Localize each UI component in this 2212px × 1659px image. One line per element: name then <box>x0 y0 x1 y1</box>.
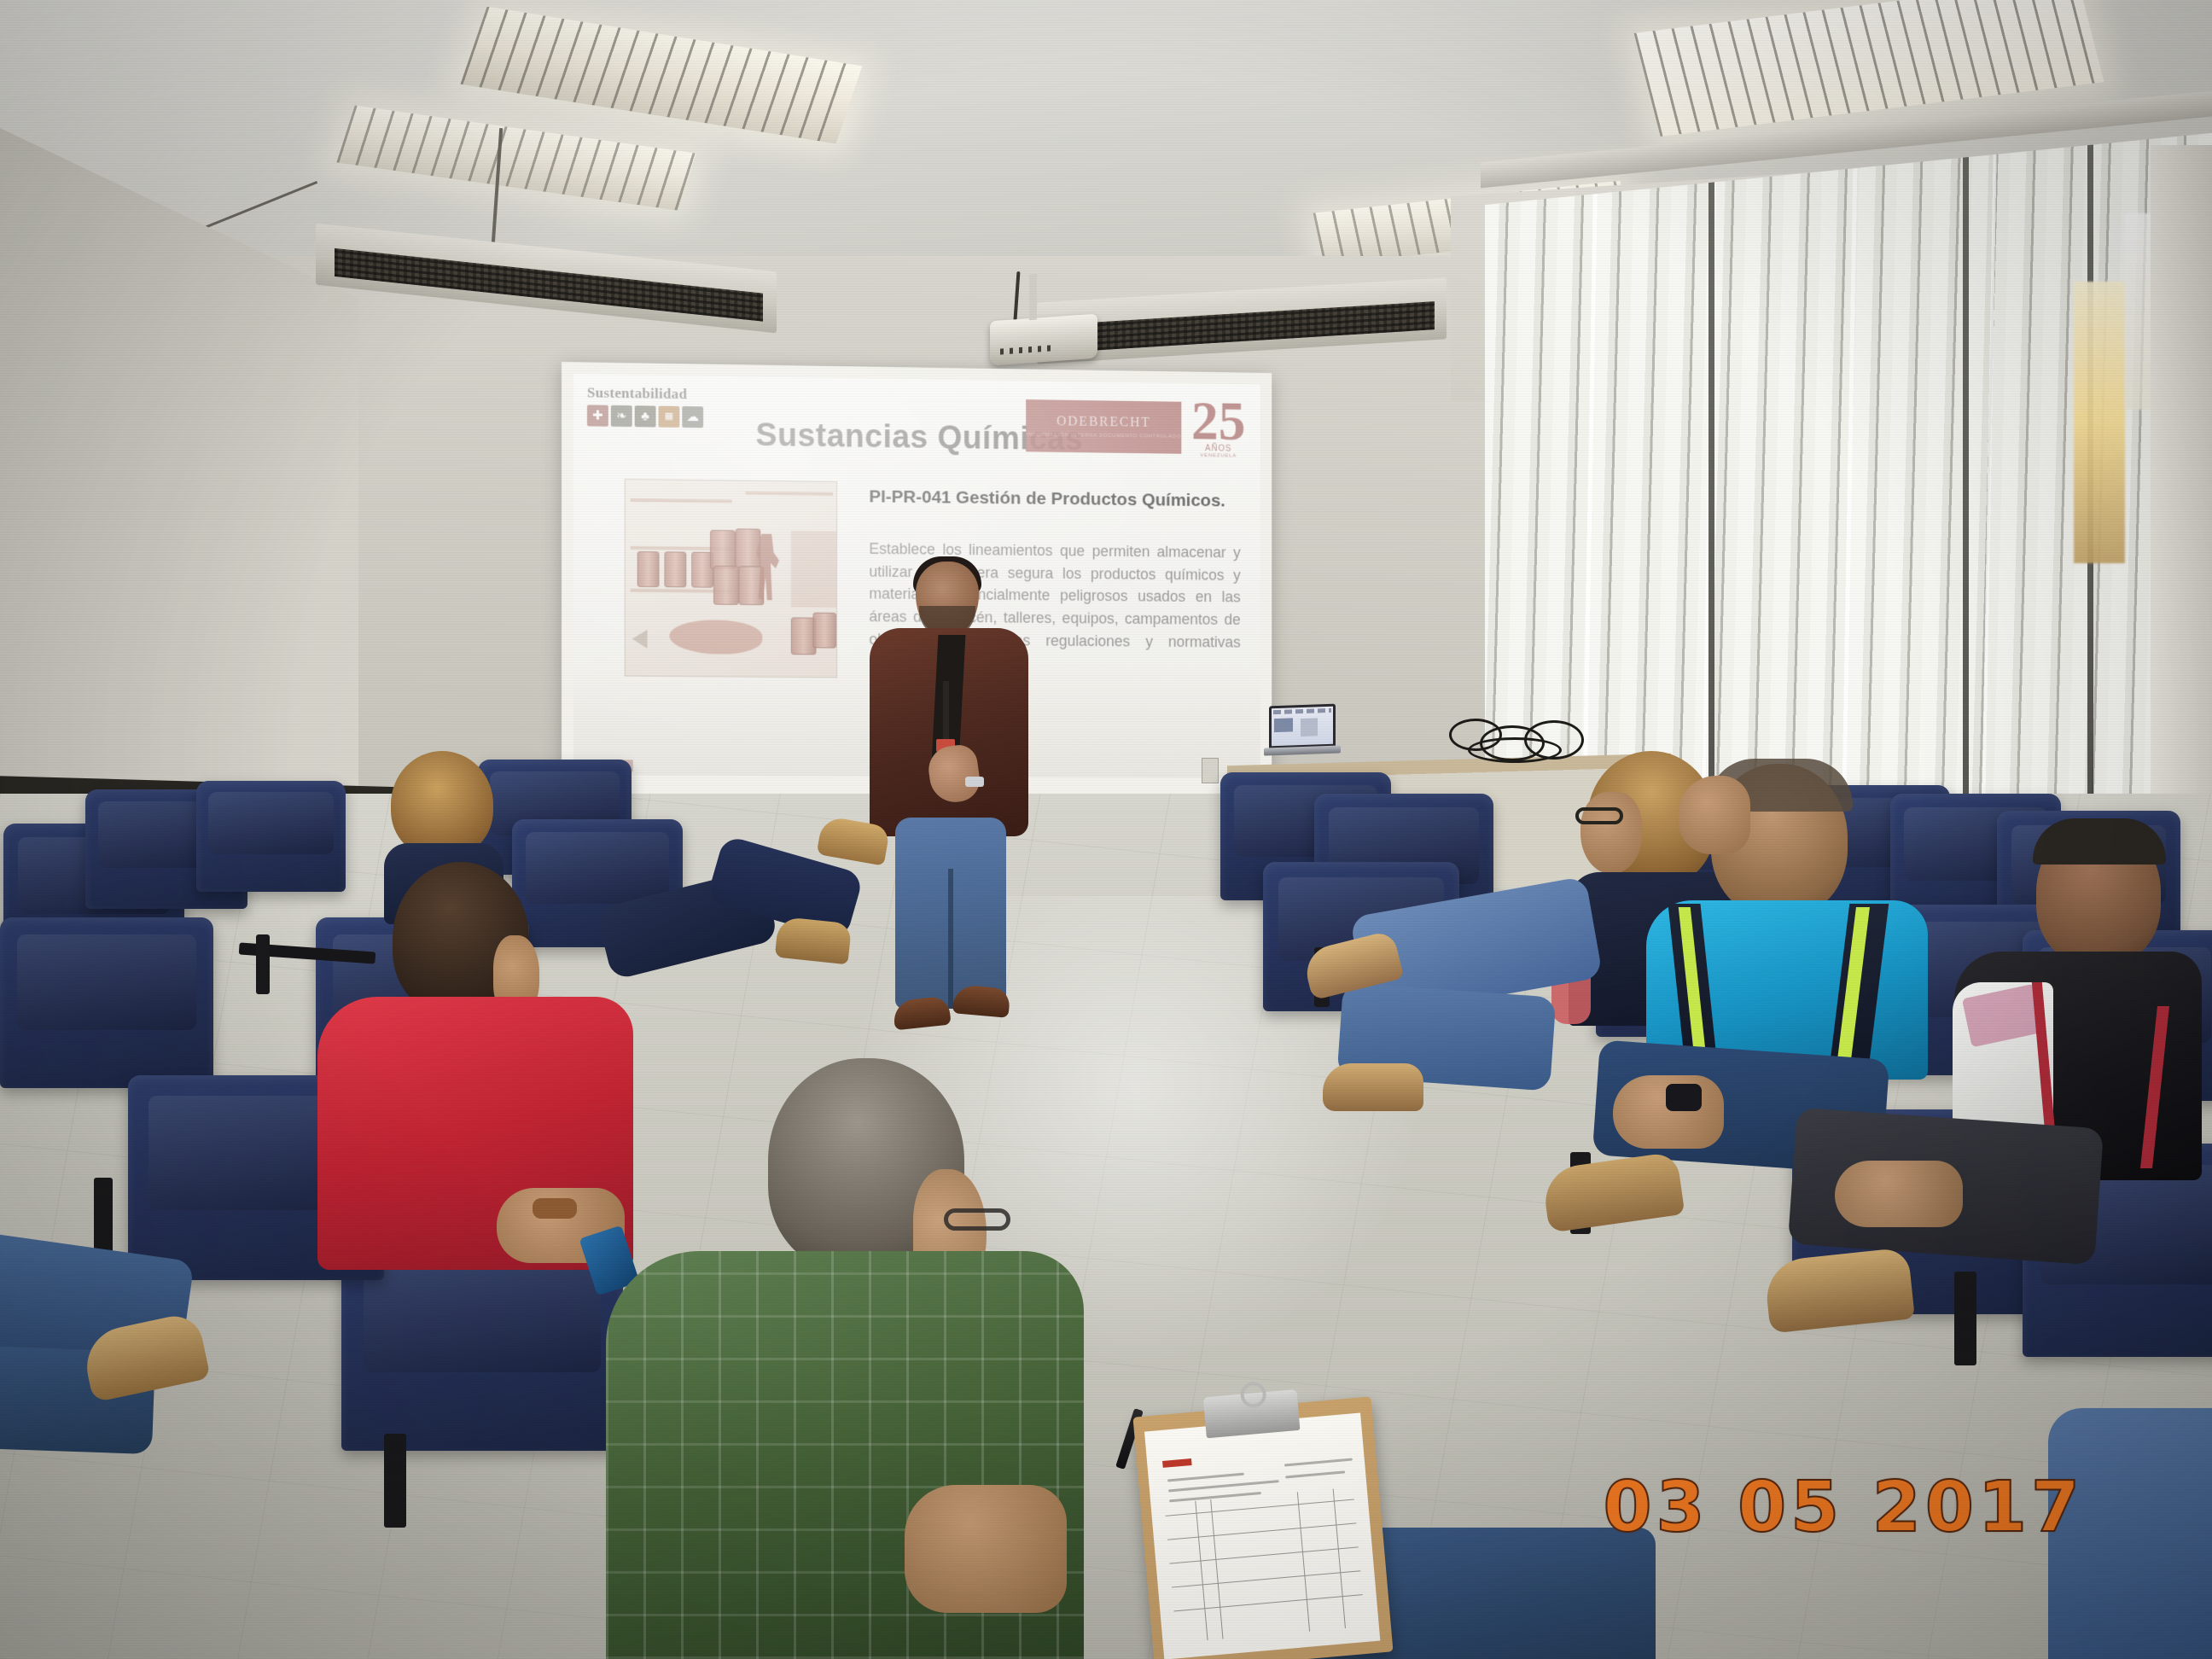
presenter <box>864 562 1035 1061</box>
anniversary-word: AÑOS <box>1205 444 1231 453</box>
attendee-vest-man-hands <box>1468 1075 1724 1263</box>
slide-heading: PI-PR-041 Gestión de Productos Químicos. <box>869 486 1240 511</box>
anniversary-country: VENEZUELA <box>1200 453 1237 458</box>
presenter-laptop[interactable] <box>1269 704 1336 756</box>
seat-leg <box>256 934 270 994</box>
attendee-eyeglasses <box>944 1208 1010 1231</box>
illustration-spill <box>669 620 762 655</box>
camera-date-stamp: 03 05 2017 <box>1603 1467 2084 1548</box>
odebrecht-logo: ODEBRECHT INFORMACIÓN INTERNA DOCUMENTO … <box>1026 399 1181 454</box>
seat-leg <box>384 1434 406 1528</box>
attendee-hair <box>391 751 493 858</box>
attendee-hand-to-chin <box>1679 776 1750 854</box>
attendee-boot <box>775 917 853 965</box>
presenter-wristwatch <box>965 777 984 787</box>
clipboard-clip[interactable] <box>1203 1389 1301 1438</box>
attendee-boot <box>1323 1063 1423 1111</box>
sheet-red-marker <box>1162 1458 1192 1468</box>
anniversary-number: 25 <box>1191 399 1246 445</box>
attendee-foreground-jeans <box>0 1220 341 1630</box>
attendee-writing-hand <box>905 1485 1067 1613</box>
seat[interactable] <box>0 917 213 1088</box>
chemical-storage-illustration <box>625 479 837 678</box>
laptop-screen[interactable] <box>1272 707 1333 747</box>
attendee-hands <box>1835 1161 1963 1227</box>
laptop-lid <box>1269 704 1336 749</box>
odebrecht-tagline: INFORMACIÓN INTERNA DOCUMENTO CONTROLADO <box>1027 433 1181 439</box>
program-label: Sustentabilidad <box>587 384 703 403</box>
presenter-jeans <box>895 818 1006 1009</box>
attendee-bracelet <box>533 1198 577 1219</box>
attendee-eyeglasses <box>1575 807 1623 824</box>
wall-outlet[interactable] <box>1202 758 1219 783</box>
attendee-green-plaid-man <box>597 1058 1195 1659</box>
attendee-reflective-vest-man <box>1626 764 1950 1071</box>
ceiling-projector <box>990 314 1097 366</box>
attendance-sign-in-clipboard[interactable] <box>1132 1396 1393 1659</box>
window-daylight <box>2074 282 2125 563</box>
attendee-jacket-man-legs <box>1758 1092 2116 1374</box>
photo-scene: Sustentabilidad ✚ ❧ ♣ ▦ ☁ Sustancias Quí… <box>0 0 2212 1659</box>
attendee-hair <box>2033 818 2166 864</box>
attendee-boot <box>1763 1247 1915 1333</box>
odebrecht-wordmark: ODEBRECHT <box>1057 414 1150 430</box>
anniversary-logo: 25 AÑOS VENEZUELA <box>1191 399 1246 459</box>
illustration-arrow-icon <box>632 630 648 649</box>
presenter-lanyard <box>943 681 949 741</box>
brand-block: ODEBRECHT INFORMACIÓN INTERNA DOCUMENTO … <box>1026 399 1245 459</box>
attendee-wristwatch <box>1666 1084 1702 1111</box>
sign-in-sheet[interactable] <box>1144 1413 1380 1659</box>
